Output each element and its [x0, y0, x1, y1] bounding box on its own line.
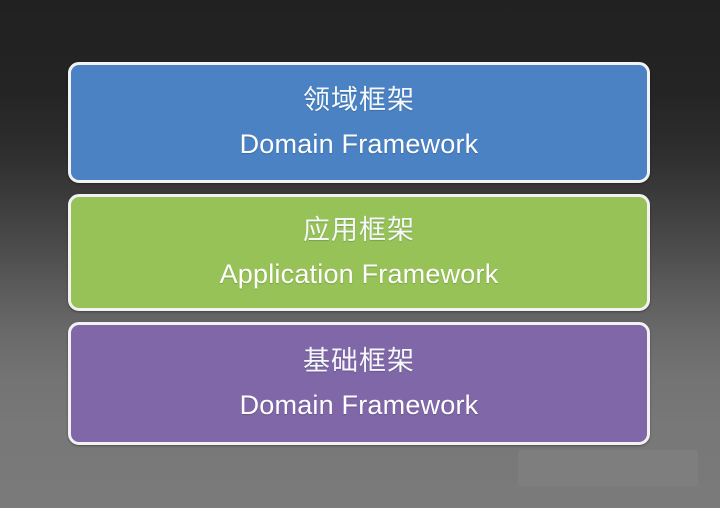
watermark-overlay — [518, 450, 698, 486]
layer-title-cn-infrastructure: 基础框架 — [303, 347, 415, 377]
layer-title-en-application: Application Framework — [220, 260, 499, 290]
layer-box-domain[interactable]: 领域框架 Domain Framework — [68, 62, 650, 183]
layer-title-en-infrastructure: Domain Framework — [240, 391, 479, 421]
layer-box-infrastructure[interactable]: 基础框架 Domain Framework — [68, 322, 650, 445]
layer-title-cn-application: 应用框架 — [303, 216, 415, 246]
layer-box-application[interactable]: 应用框架 Application Framework — [68, 194, 650, 311]
framework-layer-stack: 领域框架 Domain Framework 应用框架 Application F… — [68, 62, 650, 445]
slide-canvas: 领域框架 Domain Framework 应用框架 Application F… — [0, 0, 720, 508]
layer-title-cn-domain: 领域框架 — [303, 86, 415, 116]
layer-title-en-domain: Domain Framework — [240, 130, 479, 160]
